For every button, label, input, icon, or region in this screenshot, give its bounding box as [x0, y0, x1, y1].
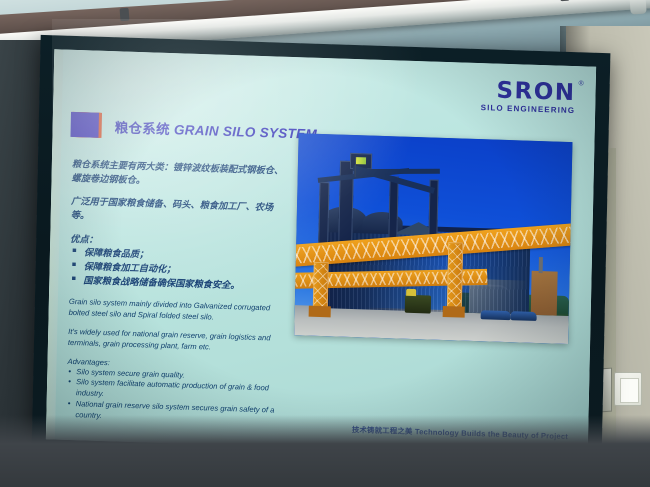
trademark-icon: ® [579, 80, 584, 87]
en-paragraph-1: Grain silo system mainly divided into Ga… [69, 297, 281, 325]
photo-car-a [481, 310, 511, 320]
photo-brick-tower [531, 271, 558, 316]
slide-title-row: 粮仓系统 GRAIN SILO SYSTEM [70, 112, 317, 145]
photo-gantry-leg-a [313, 262, 329, 310]
lower-wall-shadow [0, 415, 650, 487]
wall-light-switch[interactable] [614, 372, 642, 406]
page-title-en: GRAIN SILO SYSTEM [174, 122, 317, 142]
page-title: 粮仓系统 GRAIN SILO SYSTEM [115, 116, 318, 143]
photo-car-b [511, 311, 537, 321]
title-accent-block [70, 112, 99, 138]
cn-advantages-list: 保障粮食品质； 保障粮食加工自动化； 国家粮食战略储备确保国家粮食安全。 [69, 246, 282, 294]
projection-room-scene: SRON® SILO ENGINEERING 粮仓系统 GRAIN SILO S… [0, 0, 650, 487]
photo-gantry-base-a [309, 306, 331, 318]
slide: SRON® SILO ENGINEERING 粮仓系统 GRAIN SILO S… [46, 49, 596, 456]
photo-gantry-leg-b [447, 242, 463, 310]
slide-text-column: 粮仓系统主要有两大类：镀锌波纹板装配式钢板仓、螺旋卷边钢板仓。 广泛用于国家粮食… [66, 158, 284, 427]
page-title-cn: 粮仓系统 [115, 120, 171, 138]
photo-truck [405, 295, 431, 314]
en-paragraph-2: It's widely used for national grain rese… [68, 327, 280, 355]
grain-silo-photo [294, 133, 572, 344]
roller-bracket-left [120, 8, 130, 22]
cn-paragraph-2: 广泛用于国家粮食储备、码头、粮食加工厂、农场等。 [71, 194, 284, 229]
photo-flag [356, 157, 366, 164]
roller-cap-right [629, 0, 646, 15]
logo-tagline: SILO ENGINEERING [481, 104, 576, 115]
sron-logo: SRON® SILO ENGINEERING [481, 79, 576, 115]
photo-conveyor-truss-c [354, 169, 440, 174]
cn-paragraph-1: 粮仓系统主要有两大类：镀锌波纹板装配式钢板仓、螺旋卷边钢板仓。 [71, 158, 284, 193]
projection-screen: SRON® SILO ENGINEERING 粮仓系统 GRAIN SILO S… [32, 35, 611, 471]
screen-surface: SRON® SILO ENGINEERING 粮仓系统 GRAIN SILO S… [46, 49, 596, 456]
photo-gantry-base-b [443, 306, 465, 318]
logo-wordmark: SRON [496, 80, 576, 106]
